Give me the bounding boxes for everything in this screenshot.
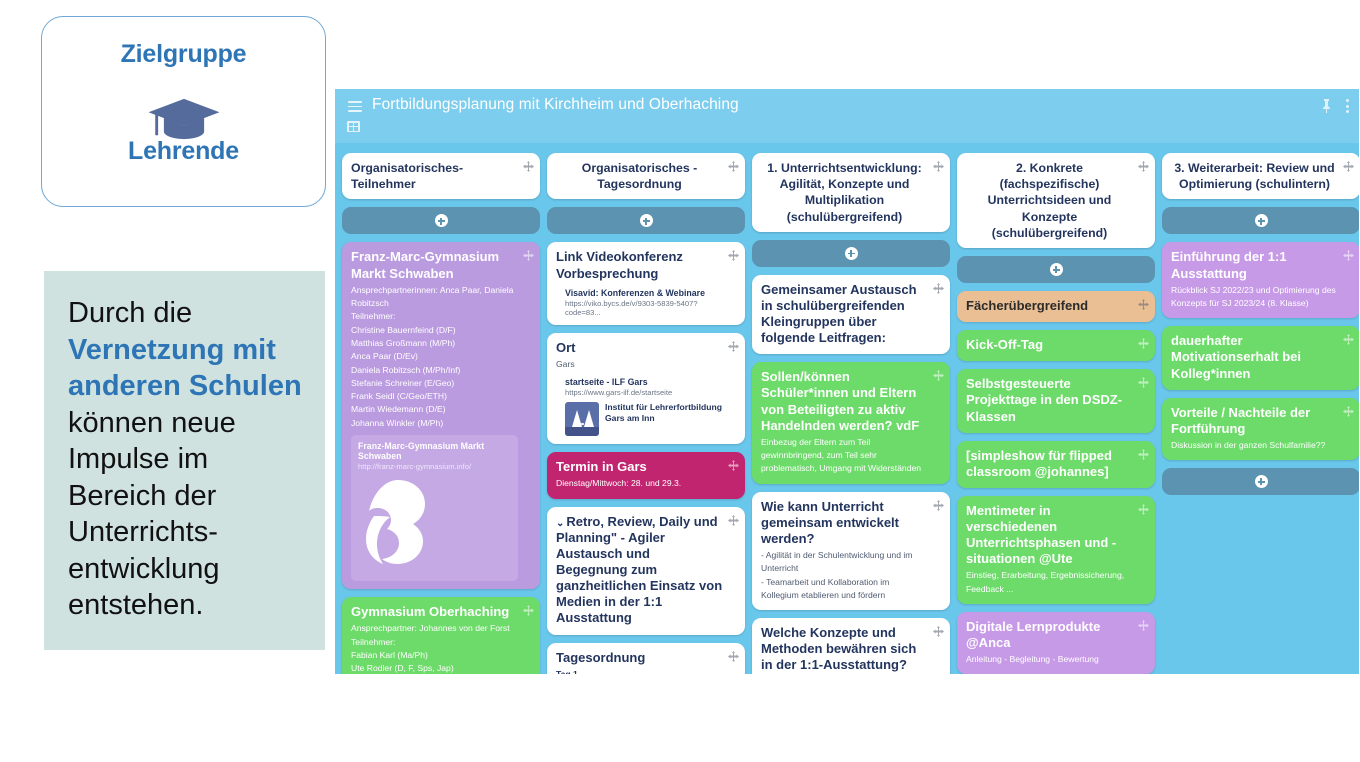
zielgruppe-subtitle: Lehrende: [42, 137, 325, 166]
card-body-line: Anleitung - Begleitung - Bewertung: [966, 653, 1133, 666]
attachment-preview[interactable]: Institut für Lehrerfortbildung Gars am I…: [565, 402, 723, 436]
card-title: Gemeinsamer Austausch in schulübergreife…: [761, 282, 928, 346]
plus-icon: [640, 214, 653, 227]
board-card[interactable]: [simpleshow für flipped classroom @johan…: [957, 441, 1155, 488]
drag-handle-icon[interactable]: [933, 500, 944, 511]
attachment-preview-label: Institut für Lehrerfortbildung Gars am I…: [605, 402, 723, 424]
card-body-line: - Teamarbeit und Kollaboration im Kolleg…: [761, 576, 928, 603]
board-card[interactable]: Fächerübergreifend: [957, 291, 1155, 322]
drag-handle-icon[interactable]: [933, 626, 944, 637]
plus-icon: [1255, 475, 1268, 488]
column-title: 1. Unterrichtsentwicklung: Agilität, Kon…: [761, 160, 928, 225]
card-body: Einstieg, Erarbeitung, Ergebnissicherung…: [966, 569, 1133, 596]
drag-handle-icon[interactable]: [1138, 377, 1149, 388]
card-body-line: Einstieg, Erarbeitung, Ergebnissicherung…: [966, 569, 1133, 596]
board-columns: Organisatorisches-TeilnehmerFranz-Marc-G…: [335, 143, 1359, 674]
card-body-line: Dienstag/Mittwoch: 28. und 29.3.: [556, 477, 723, 490]
board-card[interactable]: Termin in GarsDienstag/Mittwoch: 28. und…: [547, 452, 745, 498]
card-attachment[interactable]: Franz-Marc-Gymnasium Markt Schwabenhttp:…: [351, 435, 518, 581]
board-card[interactable]: Gemeinsamer Austausch in schulübergreife…: [752, 275, 950, 354]
board-card[interactable]: Selbstgesteuerte Projekttage in den DSDZ…: [957, 369, 1155, 432]
board-title: Fortbildungsplanung mit Kirchheim und Ob…: [372, 96, 739, 114]
card-body-line: Teilnehmer:: [351, 310, 518, 323]
attachment-url[interactable]: https://viko.bycs.de/v/9303-5839-5407?co…: [565, 299, 723, 317]
card-body-line: Fabian Karl (Ma/Ph): [351, 649, 518, 662]
board-card[interactable]: Franz-Marc-Gymnasium Markt SchwabenAnspr…: [342, 242, 540, 589]
attachment-url[interactable]: http://franz-marc-gymnasium.info/: [358, 462, 511, 471]
drag-handle-icon[interactable]: [728, 250, 739, 261]
card-body-line: Teilnehmer:: [351, 636, 518, 649]
info-text-card: Durch die Vernetzung mit anderen Schulen…: [44, 271, 325, 650]
card-title: Sollen/können Schüler*innen und Eltern v…: [761, 369, 928, 433]
card-body: Ansprechpartnerinnen: Anca Paar, Daniela…: [351, 284, 518, 430]
drag-handle-icon[interactable]: [728, 651, 739, 662]
board-column: 1. Unterrichtsentwicklung: Agilität, Kon…: [752, 153, 950, 674]
info-highlight: Vernetzung mit anderen Schulen: [68, 334, 302, 403]
drag-handle-icon[interactable]: [728, 341, 739, 352]
plus-icon: [1050, 263, 1063, 276]
card-body: Gars: [556, 358, 723, 371]
board-column: 2. Konkrete (fachspezifische) Unterricht…: [957, 153, 1155, 674]
card-attachment[interactable]: startseite - ILF Garshttps://www.gars-il…: [556, 377, 723, 436]
card-attachment[interactable]: Visavid: Konferenzen & Webinarehttps://v…: [556, 288, 723, 317]
drag-handle-icon[interactable]: [1343, 406, 1354, 417]
board-card[interactable]: Mentimeter in verschiedenen Unterrichtsp…: [957, 496, 1155, 604]
card-body: Anleitung - Begleitung - Bewertung: [966, 653, 1133, 666]
board-card[interactable]: Kick-Off-Tag: [957, 330, 1155, 361]
card-body: Ansprechpartner: Johannes von der ForstT…: [351, 622, 518, 674]
board-card[interactable]: OrtGarsstartseite - ILF Garshttps://www.…: [547, 333, 745, 444]
drag-handle-icon[interactable]: [523, 161, 534, 172]
column-title: Organisatorisches-Teilnehmer: [351, 160, 518, 192]
drag-handle-icon[interactable]: [1343, 161, 1354, 172]
card-body-line: Diskussion in der ganzen Schulfamilie??: [1171, 439, 1338, 452]
add-card-button[interactable]: [957, 256, 1155, 283]
attachment-title: Franz-Marc-Gymnasium Markt Schwaben: [358, 441, 511, 461]
card-title: Vorteile / Nachteile der Fortführung: [1171, 405, 1338, 437]
add-card-button[interactable]: [342, 207, 540, 234]
card-title: ⌄Retro, Review, Daily und Planning" - Ag…: [556, 514, 723, 627]
board-card[interactable]: TagesordnungTag 19:00 – 12:00 Uhr: Vormi…: [547, 643, 745, 674]
drag-handle-icon[interactable]: [1343, 250, 1354, 261]
column-header[interactable]: 3. Weiterarbeit: Review und Optimierung …: [1162, 153, 1359, 199]
board-card[interactable]: Digitale Lernprodukte @AncaAnleitung - B…: [957, 612, 1155, 674]
card-body-line: Daniela Robitzsch (M/Ph/Inf): [351, 364, 518, 377]
plus-icon: [435, 214, 448, 227]
card-title: Wie kann Unterricht gemeinsam entwickelt…: [761, 499, 928, 547]
drag-handle-icon[interactable]: [933, 283, 944, 294]
add-card-button[interactable]: [752, 240, 950, 267]
column-title: 2. Konkrete (fachspezifische) Unterricht…: [966, 160, 1133, 241]
card-body-line: Gars: [556, 358, 723, 371]
card-body-line: Einbezug der Eltern zum Teil gewinnbring…: [761, 436, 928, 476]
drag-handle-icon[interactable]: [1138, 299, 1149, 310]
graduation-cap-icon: [145, 95, 223, 141]
column-header[interactable]: Organisatorisches-Teilnehmer: [342, 153, 540, 199]
info-paragraph: Durch die Vernetzung mit anderen Schulen…: [68, 295, 305, 624]
card-body-line: Anca Paar (D/Ev): [351, 350, 518, 363]
column-title: 3. Weiterarbeit: Review und Optimierung …: [1171, 160, 1338, 192]
drag-handle-icon[interactable]: [1138, 620, 1149, 631]
board-card[interactable]: Sollen/können Schüler*innen und Eltern v…: [752, 362, 950, 483]
drag-handle-icon[interactable]: [1138, 161, 1149, 172]
drag-handle-icon[interactable]: [523, 250, 534, 261]
slide-root: Zielgruppe Lehrende Durch die Vernetzung…: [0, 0, 1360, 762]
card-title: Selbstgesteuerte Projekttage in den DSDZ…: [966, 376, 1133, 424]
plus-icon: [1255, 214, 1268, 227]
card-title: dauerhafter Motivationserhalt bei Kolleg…: [1171, 333, 1338, 381]
board-card[interactable]: Vorteile / Nachteile der FortführungDisk…: [1162, 398, 1359, 461]
card-title: Gymnasium Oberhaching: [351, 604, 518, 620]
info-seg-3: können neue Impulse im Bereich der Unter…: [68, 407, 236, 622]
board-card[interactable]: Wie kann Unterricht gemeinsam entwickelt…: [752, 492, 950, 611]
card-body: Rückblick SJ 2022/23 und Optimierung des…: [1171, 284, 1338, 311]
column-header[interactable]: 1. Unterrichtsentwicklung: Agilität, Kon…: [752, 153, 950, 232]
card-title: Welche Konzepte und Methoden bewähren si…: [761, 625, 928, 673]
card-title: Link Videokonferenz Vorbesprechung: [556, 249, 723, 281]
attachment-title: Visavid: Konferenzen & Webinare: [565, 288, 723, 298]
plus-icon: [845, 247, 858, 260]
card-title: Termin in Gars: [556, 459, 723, 475]
board-card[interactable]: Einführung der 1:1 AusstattungRückblick …: [1162, 242, 1359, 318]
hamburger-icon[interactable]: [348, 101, 362, 112]
board-column: 3. Weiterarbeit: Review und Optimierung …: [1162, 153, 1359, 495]
card-body-line: Rückblick SJ 2022/23 und Optimierung des…: [1171, 284, 1338, 311]
more-vertical-icon[interactable]: [1346, 99, 1349, 113]
board-column: Organisatorisches-TeilnehmerFranz-Marc-G…: [342, 153, 540, 674]
add-card-button[interactable]: [1162, 207, 1359, 234]
collapse-caret-icon[interactable]: ⌄: [556, 518, 564, 529]
card-title: Mentimeter in verschiedenen Unterrichtsp…: [966, 503, 1133, 567]
board-card[interactable]: Link Videokonferenz VorbesprechungVisavi…: [547, 242, 745, 324]
card-title: Kick-Off-Tag: [966, 337, 1133, 353]
card-title: Einführung der 1:1 Ausstattung: [1171, 249, 1338, 281]
drag-handle-icon[interactable]: [1138, 504, 1149, 515]
school-logo-swirl: [358, 476, 446, 568]
drag-handle-icon[interactable]: [933, 370, 944, 381]
board-grid-icon[interactable]: [347, 121, 360, 132]
column-header[interactable]: 2. Konkrete (fachspezifische) Unterricht…: [957, 153, 1155, 248]
card-body-line: Ute Rodler (D, F, Sps, Jap): [351, 662, 518, 674]
card-title: Ort: [556, 340, 723, 356]
board-card[interactable]: ⌄Retro, Review, Daily und Planning" - Ag…: [547, 507, 745, 635]
card-body-line: - Agilität in der Schulentwicklung und i…: [761, 549, 928, 576]
kanban-board: Fortbildungsplanung mit Kirchheim und Ob…: [335, 89, 1359, 674]
zielgruppe-title: Zielgruppe: [42, 40, 325, 69]
card-body: Dienstag/Mittwoch: 28. und 29.3.: [556, 477, 723, 490]
card-body-line: Frank Seidl (C/Geo/ETH): [351, 390, 518, 403]
card-body: Einbezug der Eltern zum Teil gewinnbring…: [761, 436, 928, 476]
column-header[interactable]: Organisatorisches - Tagesordnung: [547, 153, 745, 199]
drag-handle-icon[interactable]: [728, 460, 739, 471]
attachment-title: startseite - ILF Gars: [565, 377, 723, 387]
column-title: Organisatorisches - Tagesordnung: [556, 160, 723, 192]
board-card[interactable]: dauerhafter Motivationserhalt bei Kolleg…: [1162, 326, 1359, 389]
drag-handle-icon[interactable]: [728, 515, 739, 526]
card-body-line: Ansprechpartnerinnen: Anca Paar, Daniela…: [351, 284, 518, 311]
drag-handle-icon[interactable]: [933, 161, 944, 172]
drag-handle-icon[interactable]: [728, 161, 739, 172]
add-card-button[interactable]: [1162, 468, 1359, 495]
board-card[interactable]: Welche Konzepte und Methoden bewähren si…: [752, 618, 950, 674]
card-title: Digitale Lernprodukte @Anca: [966, 619, 1133, 651]
card-body-line: Ansprechpartner: Johannes von der Forst: [351, 622, 518, 635]
card-body: - Agilität in der Schulentwicklung und i…: [761, 549, 928, 602]
zielgruppe-card: Zielgruppe Lehrende: [41, 16, 326, 207]
card-body-line: Tag 1: [556, 668, 723, 674]
topbar-actions: [1321, 99, 1349, 113]
attachment-url[interactable]: https://www.gars-ilf.de/startseite: [565, 388, 723, 397]
drag-handle-icon[interactable]: [1343, 334, 1354, 345]
card-body-line: Matthias Großmann (M/Ph): [351, 337, 518, 350]
drag-handle-icon[interactable]: [1138, 338, 1149, 349]
card-body: Diskussion in der ganzen Schulfamilie??: [1171, 439, 1338, 452]
card-body: Tag 19:00 – 12:00 Uhr: Vormittags in den…: [556, 668, 723, 674]
board-column: Organisatorisches - TagesordnungLink Vid…: [547, 153, 745, 674]
card-body-line: Martin Wiedemann (D/E): [351, 403, 518, 416]
card-body-line: Johanna Winkler (M/Ph): [351, 417, 518, 430]
pin-icon[interactable]: [1321, 99, 1332, 113]
ilf-gars-logo: [565, 402, 599, 436]
card-title: Franz-Marc-Gymnasium Markt Schwaben: [351, 249, 518, 281]
card-title: Tagesordnung: [556, 650, 723, 666]
card-body-line: Christine Bauernfeind (D/F): [351, 324, 518, 337]
board-topbar: Fortbildungsplanung mit Kirchheim und Ob…: [335, 89, 1359, 143]
add-card-button[interactable]: [547, 207, 745, 234]
card-title: [simpleshow für flipped classroom @johan…: [966, 448, 1133, 480]
card-body-line: Stefanie Schreiner (E/Geo): [351, 377, 518, 390]
drag-handle-icon[interactable]: [523, 605, 534, 616]
board-card[interactable]: Gymnasium OberhachingAnsprechpartner: Jo…: [342, 597, 540, 674]
drag-handle-icon[interactable]: [1138, 449, 1149, 460]
info-seg-1: Durch die: [68, 297, 192, 329]
card-title: Fächerübergreifend: [966, 298, 1133, 314]
